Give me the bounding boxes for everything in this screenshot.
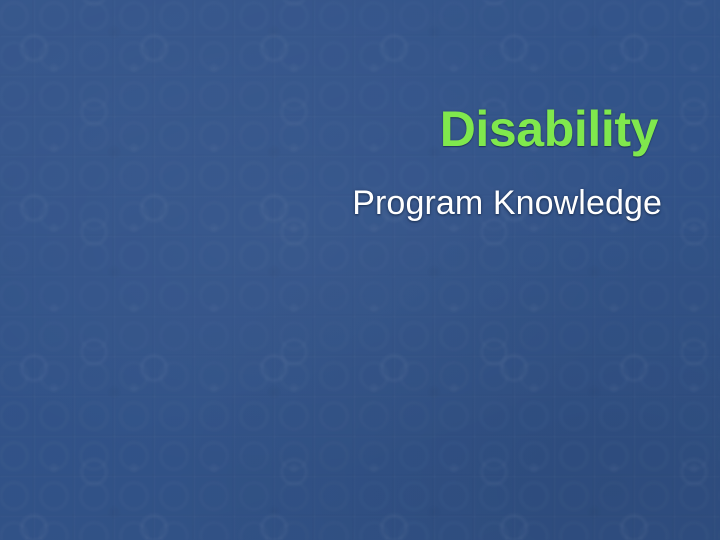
- title-slide: Disability Program Knowledge: [0, 0, 720, 540]
- background-accent-tiles: [0, 0, 720, 540]
- background-gradient: [0, 0, 720, 540]
- background-softening-overlay: [0, 0, 720, 540]
- background-rounded-square-pattern: [0, 0, 720, 540]
- background-tile-glyph-dots: [0, 0, 720, 540]
- background-accent-tiles-secondary: [0, 0, 720, 540]
- background-tile-grid-pattern: [0, 0, 720, 540]
- background-tile-shadow-dots: [0, 0, 720, 540]
- slide-title: Disability: [440, 104, 658, 154]
- slide-subtitle: Program Knowledge: [352, 186, 662, 220]
